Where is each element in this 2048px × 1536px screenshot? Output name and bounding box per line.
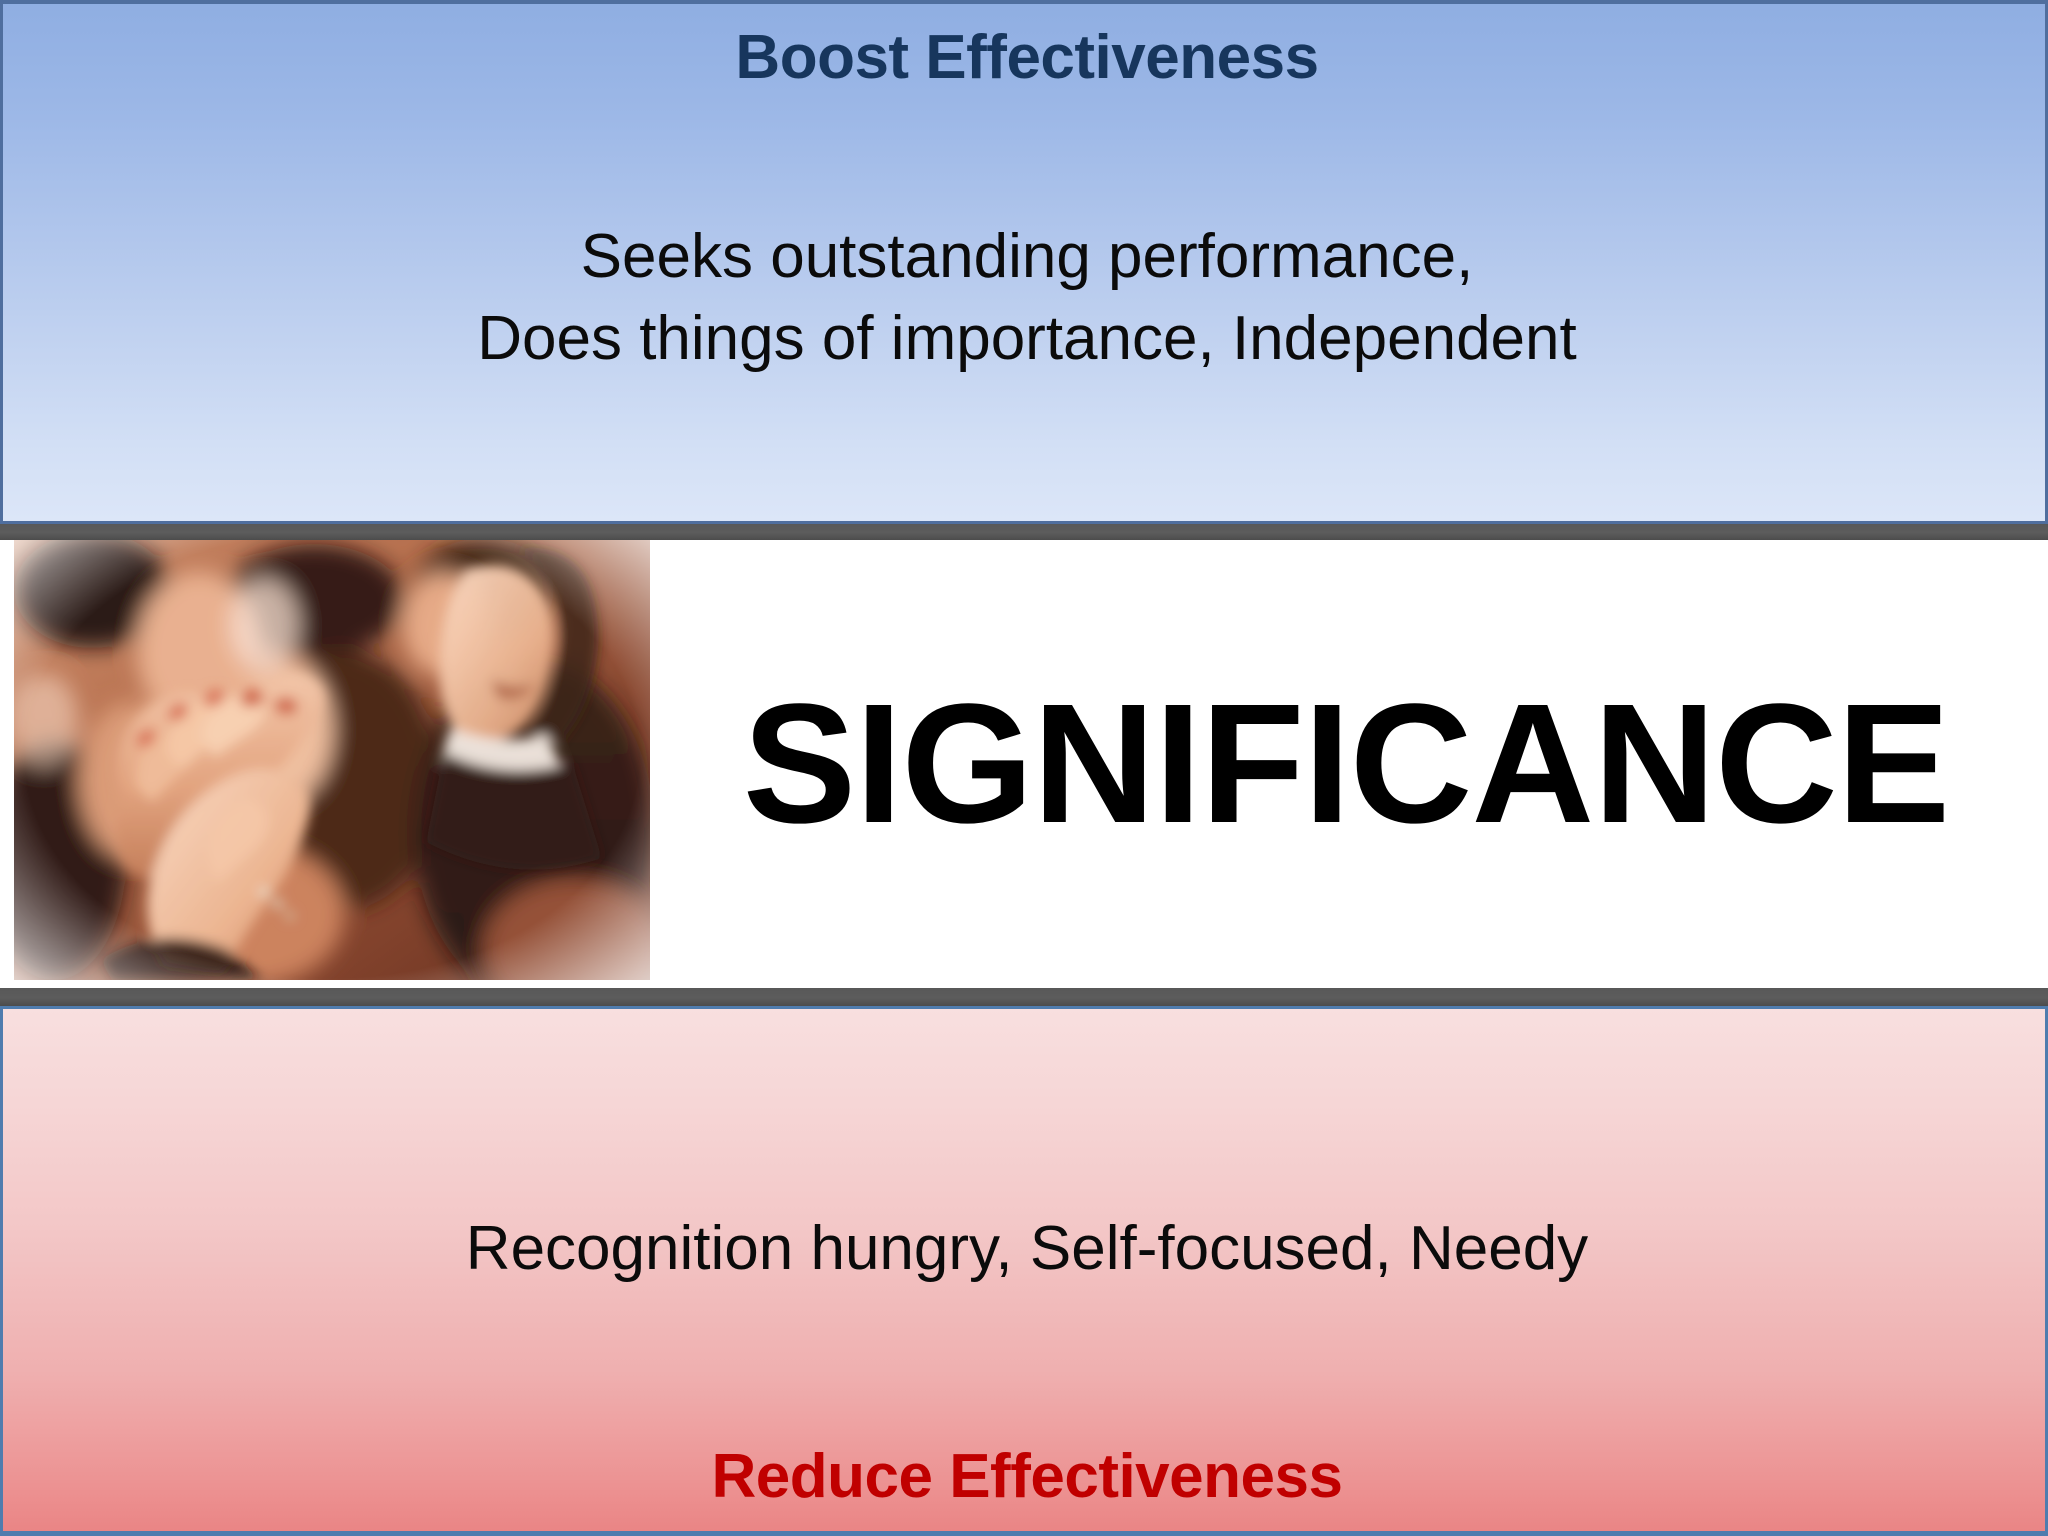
divider-bar-top xyxy=(0,524,2048,540)
applauding-audience-photo xyxy=(14,540,650,980)
divider-bar-bottom xyxy=(0,988,2048,1006)
reduce-effectiveness-panel: Recognition hungry, Self-focused, Needy … xyxy=(0,1006,2048,1536)
reduce-effectiveness-traits: Recognition hungry, Self-focused, Needy xyxy=(3,1209,2048,1290)
significance-panel: SIGNIFICANCE xyxy=(0,540,2048,988)
boost-trait-line-1: Seeks outstanding performance, xyxy=(3,216,2048,298)
boost-effectiveness-panel: Boost Effectiveness Seeks outstanding pe… xyxy=(0,0,2048,524)
reduce-effectiveness-title: Reduce Effectiveness xyxy=(3,1441,2048,1512)
reduce-trait-line-1: Recognition hungry, Self-focused, Needy xyxy=(3,1209,2048,1290)
slide-canvas: Boost Effectiveness Seeks outstanding pe… xyxy=(0,0,2048,1536)
boost-trait-line-2: Does things of importance, Independent xyxy=(3,298,2048,380)
significance-heading: SIGNIFICANCE xyxy=(650,570,2048,958)
boost-effectiveness-traits: Seeks outstanding performance, Does thin… xyxy=(3,216,2048,380)
boost-effectiveness-title: Boost Effectiveness xyxy=(3,22,2048,93)
